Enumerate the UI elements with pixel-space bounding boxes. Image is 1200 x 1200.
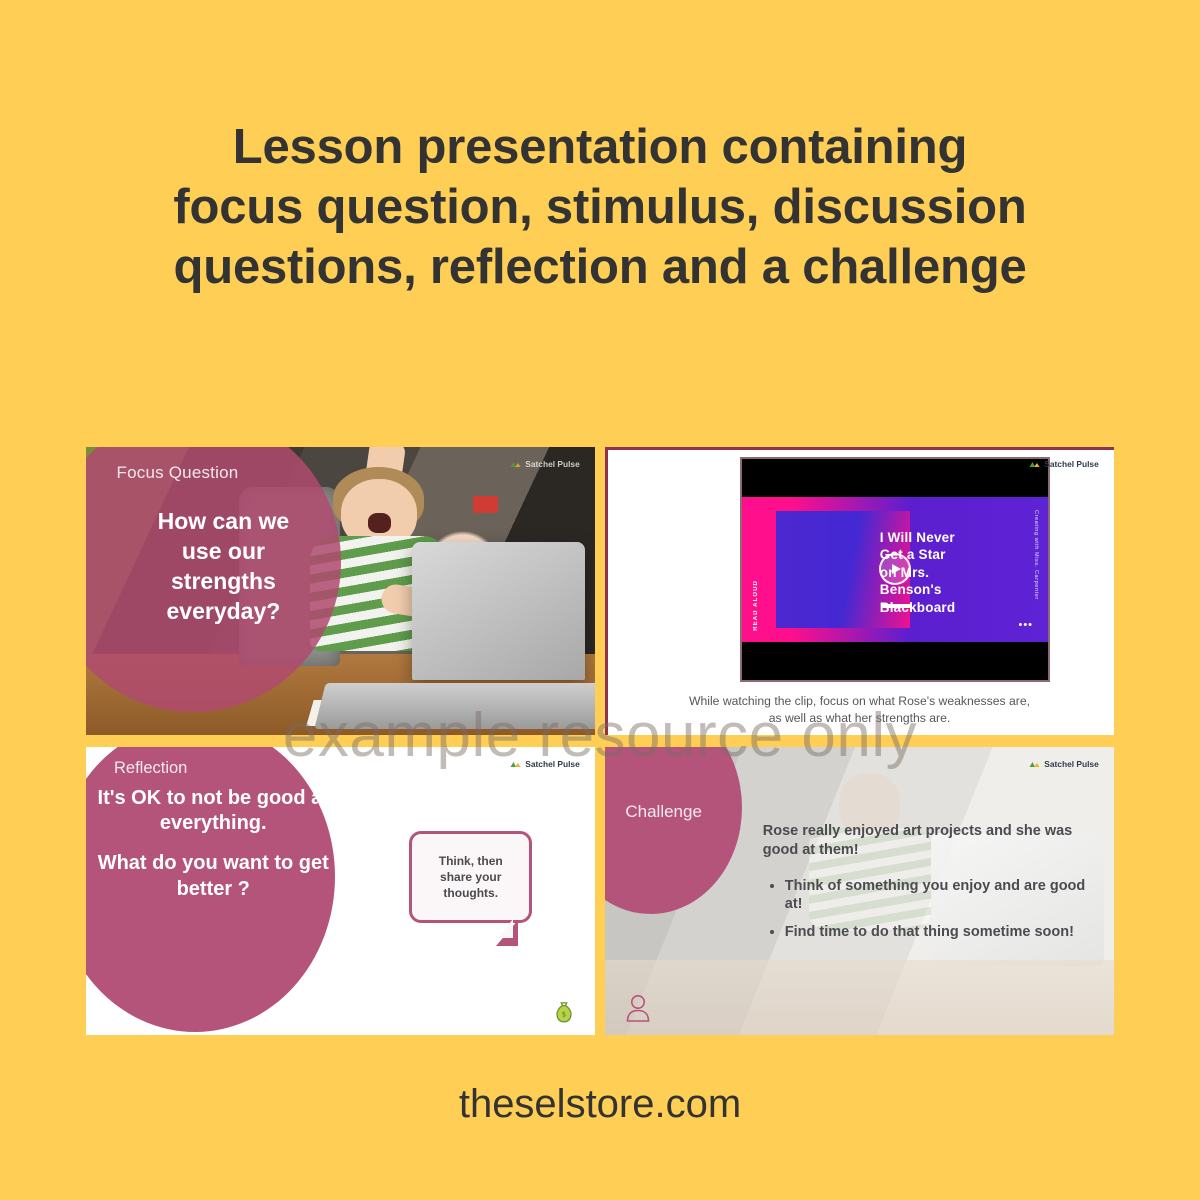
satchel-pulse-logo-text: Satchel Pulse [1044, 759, 1098, 769]
video-player[interactable]: READ ALOUD Creating with Miss. Carpenter… [740, 457, 1050, 682]
reflection-question: What do you want to get better ? [96, 851, 330, 902]
focus-question-line-4: everyday? [167, 598, 281, 624]
satchel-pulse-logo: Satchel Pulse [1029, 459, 1098, 469]
stimulus-caption-line-1: While watching the clip, focus on what R… [689, 694, 1030, 708]
reflection-statement: It's OK to not be good at everything. [98, 787, 329, 835]
person-icon [625, 993, 651, 1023]
video-title-line-1: I Will Never [880, 530, 955, 545]
satchel-pulse-logo: Satchel Pulse [510, 759, 579, 769]
slide-stimulus[interactable]: READ ALOUD Creating with Miss. Carpenter… [605, 447, 1114, 735]
footer-url: theselstore.com [0, 1082, 1200, 1127]
ellipsis-icon[interactable]: ••• [1018, 620, 1033, 631]
list-item: Find time to do that thing sometime soon… [785, 923, 1091, 942]
speech-bubble: Think, then share your thoughts. [409, 831, 532, 923]
page-title: Lesson presentation containing focus que… [0, 118, 1200, 297]
video-title-rule [881, 604, 912, 608]
slide-deck: Focus Question How can we use our streng… [86, 447, 1114, 1035]
focus-question-line-1: How can we [158, 508, 290, 534]
list-item: Think of something you enjoy and are goo… [785, 877, 1091, 915]
slide-focus-question[interactable]: Focus Question How can we use our streng… [86, 447, 595, 735]
challenge-lead-text: Rose really enjoyed art projects and she… [763, 822, 1091, 860]
reflection-text: It's OK to not be good at everything. Wh… [96, 786, 330, 902]
slide-eyebrow-reflection: Reflection [114, 759, 187, 778]
satchel-pulse-logo-text: Satchel Pulse [525, 759, 579, 769]
video-credit: Creating with Miss. Carpenter [1033, 510, 1039, 600]
stimulus-caption-line-2: as well as what her strengths are. [769, 711, 951, 725]
challenge-bullet-list: Think of something you enjoy and are goo… [763, 877, 1091, 952]
svg-text:$: $ [561, 1010, 566, 1019]
laptop-screen-shape [412, 542, 585, 680]
satchel-pulse-logo-text: Satchel Pulse [525, 459, 579, 469]
slide-reflection[interactable]: Reflection It's OK to not be good at eve… [86, 747, 595, 1035]
slide-top-border [605, 447, 1114, 450]
slide-eyebrow-challenge: Challenge [625, 802, 702, 822]
speech-bubble-line-2: share your [440, 870, 501, 884]
speech-bubble-line-3: thoughts. [443, 886, 498, 900]
satchel-pulse-logo-text: Satchel Pulse [1044, 459, 1098, 469]
slide-left-border [605, 447, 608, 735]
money-bag-icon: $ [553, 999, 575, 1025]
page-title-line-3: questions, reflection and a challenge [60, 238, 1140, 298]
mountains-icon [1029, 460, 1040, 468]
mountains-icon [510, 760, 521, 768]
slide-challenge[interactable]: Challenge Rose really enjoyed art projec… [605, 747, 1114, 1035]
speech-bubble-text: Think, then share your thoughts. [439, 853, 503, 901]
focus-question-line-2: use our [182, 538, 265, 564]
satchel-pulse-logo: Satchel Pulse [1029, 759, 1098, 769]
child-mouth-shape [368, 513, 391, 533]
page-title-line-2: focus question, stimulus, discussion [60, 178, 1140, 238]
focus-question-text: How can we use our strengths everyday? [111, 507, 335, 627]
focus-question-line-3: strengths [171, 568, 276, 594]
read-aloud-badge: READ ALOUD [753, 580, 759, 631]
mountains-icon [1029, 760, 1040, 768]
slide-eyebrow-focus-question: Focus Question [117, 463, 239, 483]
play-icon[interactable] [879, 553, 911, 585]
mountains-icon [510, 460, 521, 468]
page-title-line-1: Lesson presentation containing [60, 118, 1140, 178]
laptop-keyboard-shape [314, 683, 595, 729]
stimulus-caption: While watching the clip, focus on what R… [646, 693, 1074, 726]
exit-sign [473, 496, 498, 513]
speech-bubble-line-1: Think, then [439, 854, 503, 868]
satchel-pulse-logo: Satchel Pulse [510, 459, 579, 469]
video-thumbnail: READ ALOUD Creating with Miss. Carpenter… [742, 497, 1048, 643]
